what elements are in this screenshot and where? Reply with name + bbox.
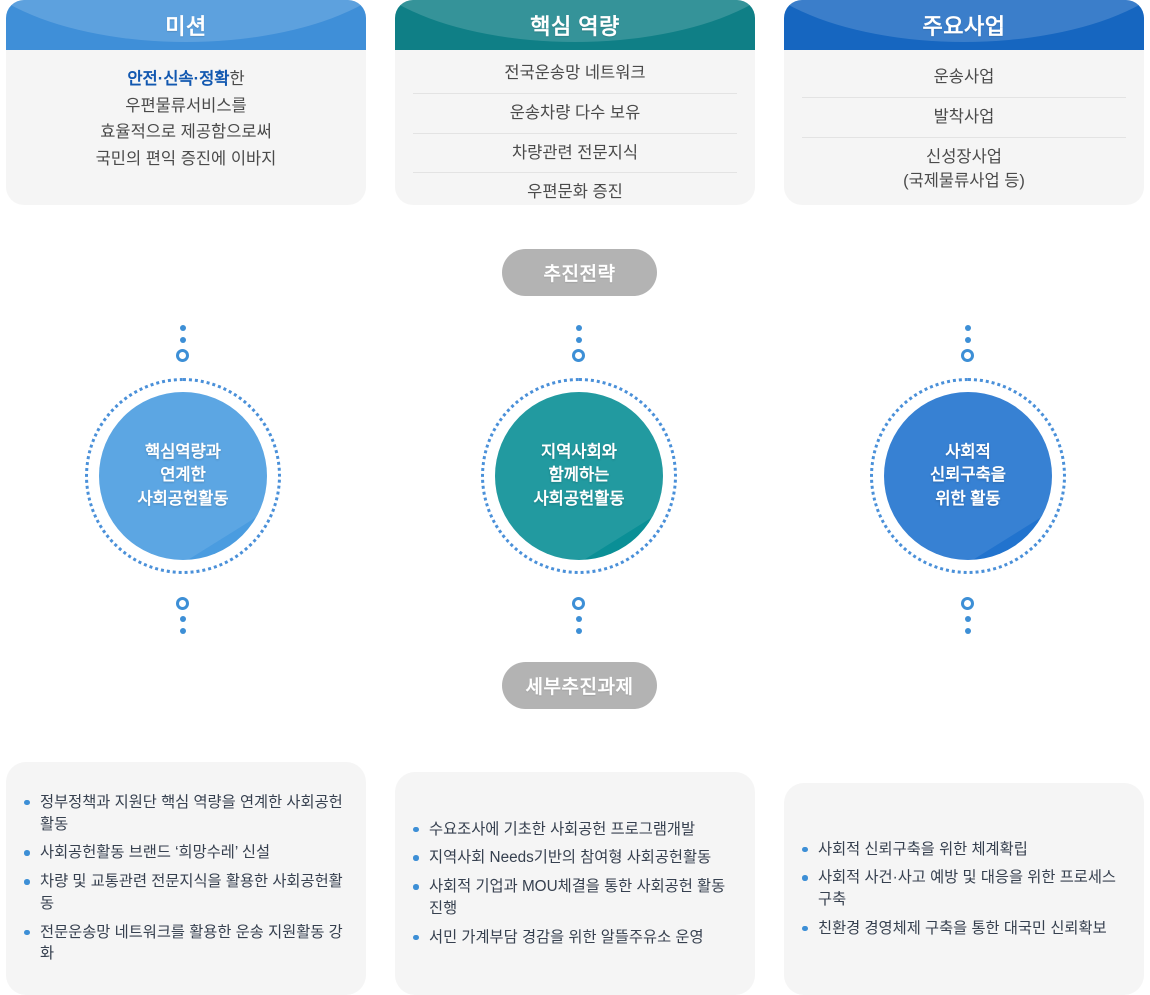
core-competency-list: 전국운송망 네트워크 운송차량 다수 보유 차량관련 전문지식 우편문화 증진 [413, 54, 737, 205]
list-item: 사회공헌활동 브랜드 ‘희망수레’ 신설 [24, 842, 348, 864]
circle-text: 사회적 신뢰구축을 위한 활동 [930, 441, 1006, 511]
card-core-competency-body: 전국운송망 네트워크 운송차량 다수 보유 차량관련 전문지식 우편문화 증진 [395, 50, 755, 205]
connector-dot [180, 337, 186, 343]
mission-accent-tail: 한 [229, 70, 244, 88]
list-item: 전국운송망 네트워크 [413, 54, 737, 93]
task-list-right: 사회적 신뢰구축을 위한 체계확립 사회적 사건·사고 예방 및 대응을 위한 … [784, 832, 1144, 947]
circle-line: 사회적 [930, 441, 1006, 464]
connector-dot [576, 628, 582, 634]
connector-dot [180, 628, 186, 634]
connector-dot [965, 325, 971, 331]
circle-strategy-3: 사회적 신뢰구축을 위한 활동 [870, 378, 1066, 574]
card-main-business-header: 주요사업 [784, 0, 1144, 50]
list-item: 사회적 사건·사고 예방 및 대응을 위한 프로세스 구축 [802, 867, 1126, 910]
connector-dot [965, 628, 971, 634]
connector-ring [572, 349, 585, 362]
list-item: 친환경 경영체제 구축을 통한 대국민 신뢰확보 [802, 918, 1126, 940]
connector-dot [180, 616, 186, 622]
task-list-center: 수요조사에 기초한 사회공헌 프로그램개발 지역사회 Needs기반의 참여형 … [395, 812, 755, 956]
circle-line: 함께하는 [533, 464, 624, 487]
connector-ring [961, 349, 974, 362]
connector-upper-left [176, 322, 189, 365]
list-item: 서민 가계부담 경감을 위한 알뜰주유소 운영 [413, 927, 737, 949]
card-mission-header: 미션 [6, 0, 366, 50]
main-business-list: 운송사업 발착사업 신성장사업 (국제물류사업 등) [802, 58, 1126, 201]
list-item: 발착사업 [802, 97, 1126, 137]
connector-lower-left [176, 594, 189, 637]
mission-accent: 안전·신속·정확 [127, 70, 229, 88]
list-item: 우편문화 증진 [413, 172, 737, 205]
connector-dot [180, 325, 186, 331]
circle-line: 위한 활동 [930, 488, 1006, 511]
circle-line: 지역사회와 [533, 441, 624, 464]
connector-ring [961, 597, 974, 610]
infographic-root: 미션 안전·신속·정확한 우편물류서비스를 효율적으로 제공함으로써 국민의 편… [0, 0, 1150, 995]
connector-dot [576, 337, 582, 343]
list-item: 지역사회 Needs기반의 참여형 사회공헌활동 [413, 847, 737, 869]
badge-strategy-label: 추진전략 [544, 259, 616, 286]
circle-body: 핵심역량과 연계한 사회공헌활동 [99, 392, 267, 560]
task-list-left: 정부정책과 지원단 핵심 역량을 연계한 사회공헌활동 사회공헌활동 브랜드 ‘… [6, 785, 366, 972]
card-mission-title: 미션 [165, 9, 206, 41]
mission-line-3: 국민의 편익 증진에 이바지 [24, 146, 348, 173]
list-item: 수요조사에 기초한 사회공헌 프로그램개발 [413, 819, 737, 841]
list-item: 운송사업 [802, 58, 1126, 97]
list-item: 전문운송망 네트워크를 활용한 운송 지원활동 강화 [24, 922, 348, 965]
connector-dot [576, 616, 582, 622]
badge-strategy: 추진전략 [502, 249, 657, 296]
circle-line: 연계한 [137, 464, 228, 487]
connector-ring [572, 597, 585, 610]
connector-lower-center [572, 594, 585, 637]
connector-upper-right [961, 322, 974, 365]
circle-line: 신뢰구축을 [930, 464, 1006, 487]
card-core-competency: 핵심 역량 전국운송망 네트워크 운송차량 다수 보유 차량관련 전문지식 우편… [395, 0, 755, 205]
badge-tasks: 세부추진과제 [502, 662, 657, 709]
circle-body: 사회적 신뢰구축을 위한 활동 [884, 392, 1052, 560]
mission-line-2: 효율적으로 제공함으로써 [24, 119, 348, 146]
circle-strategy-1: 핵심역량과 연계한 사회공헌활동 [85, 378, 281, 574]
card-core-competency-title: 핵심 역량 [530, 9, 620, 41]
card-main-business-body: 운송사업 발착사업 신성장사업 (국제물류사업 등) [784, 50, 1144, 205]
card-main-business: 주요사업 운송사업 발착사업 신성장사업 (국제물류사업 등) [784, 0, 1144, 205]
circle-line: 사회공헌활동 [137, 488, 228, 511]
circle-strategy-2: 지역사회와 함께하는 사회공헌활동 [481, 378, 677, 574]
card-mission-body: 안전·신속·정확한 우편물류서비스를 효율적으로 제공함으로써 국민의 편익 증… [6, 50, 366, 187]
connector-upper-center [572, 322, 585, 365]
list-item: 정부정책과 지원단 핵심 역량을 연계한 사회공헌활동 [24, 792, 348, 835]
circle-text: 지역사회와 함께하는 사회공헌활동 [533, 441, 624, 511]
list-item: 사회적 기업과 MOU체결을 통한 사회공헌 활동 진행 [413, 876, 737, 919]
connector-dot [576, 325, 582, 331]
card-mission: 미션 안전·신속·정확한 우편물류서비스를 효율적으로 제공함으로써 국민의 편… [6, 0, 366, 205]
connector-ring [176, 597, 189, 610]
list-item: 차량관련 전문지식 [413, 133, 737, 173]
badge-tasks-label: 세부추진과제 [526, 672, 634, 699]
connector-dot [965, 616, 971, 622]
list-item: 사회적 신뢰구축을 위한 체계확립 [802, 839, 1126, 861]
card-main-business-title: 주요사업 [923, 9, 1006, 41]
circle-body: 지역사회와 함께하는 사회공헌활동 [495, 392, 663, 560]
list-item: 운송차량 다수 보유 [413, 93, 737, 133]
circle-line: 핵심역량과 [137, 441, 228, 464]
card-core-competency-header: 핵심 역량 [395, 0, 755, 50]
mission-statement: 안전·신속·정확한 우편물류서비스를 효율적으로 제공함으로써 국민의 편익 증… [24, 60, 348, 173]
list-item: 차량 및 교통관련 전문지식을 활용한 사회공헌활동 [24, 871, 348, 914]
panel-tasks-left: 정부정책과 지원단 핵심 역량을 연계한 사회공헌활동 사회공헌활동 브랜드 ‘… [6, 762, 366, 995]
mission-line-1: 우편물류서비스를 [24, 93, 348, 120]
connector-dot [965, 337, 971, 343]
circle-text: 핵심역량과 연계한 사회공헌활동 [137, 441, 228, 511]
connector-ring [176, 349, 189, 362]
list-item: 신성장사업 (국제물류사업 등) [802, 137, 1126, 202]
panel-tasks-right: 사회적 신뢰구축을 위한 체계확립 사회적 사건·사고 예방 및 대응을 위한 … [784, 783, 1144, 995]
panel-tasks-center: 수요조사에 기초한 사회공헌 프로그램개발 지역사회 Needs기반의 참여형 … [395, 772, 755, 995]
connector-lower-right [961, 594, 974, 637]
circle-line: 사회공헌활동 [533, 488, 624, 511]
